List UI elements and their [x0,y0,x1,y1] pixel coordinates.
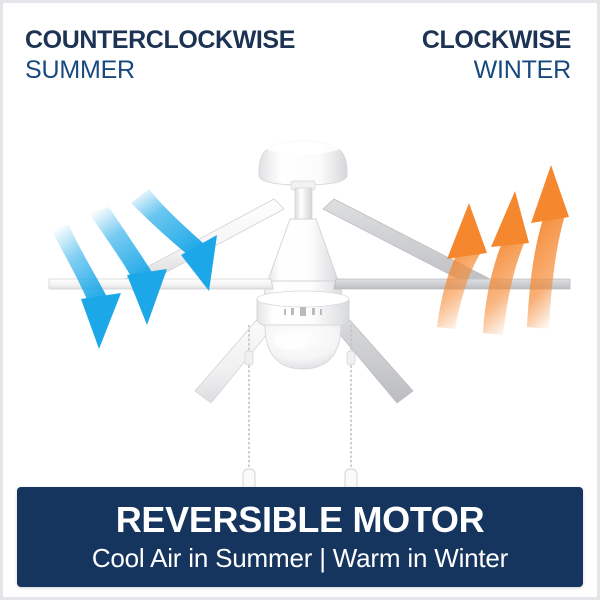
pull-chain-right-connector [347,351,355,365]
infographic-canvas: COUNTERCLOCKWISE SUMMER CLOCKWISE WINTER [0,0,600,600]
header-right-title: CLOCKWISE [422,27,571,54]
fan-blade-left [49,279,273,289]
pull-chain-left-connector [245,351,253,365]
banner-subtitle: Cool Air in Summer | Warm in Winter [92,545,508,572]
light-dome-highlight [273,332,309,350]
banner-title: REVERSIBLE MOTOR [116,501,485,539]
motor-housing-body [267,219,339,283]
fan-blade-right [334,279,570,289]
header-label-counterclockwise: COUNTERCLOCKWISE SUMMER [25,27,295,84]
header-right-subtitle: WINTER [422,57,571,84]
switch-housing-top [257,291,349,307]
ceiling-fan-graphic [3,103,600,493]
canopy-top-highlight [261,136,345,154]
header-left-title: COUNTERCLOCKWISE [25,27,295,54]
header-left-subtitle: SUMMER [25,57,295,84]
header-label-clockwise: CLOCKWISE WINTER [422,27,571,84]
fan-blade-upper-right [323,199,490,289]
fan-blade-upper-left [121,199,284,290]
fan-illustration [3,103,600,493]
reversible-motor-banner: REVERSIBLE MOTOR Cool Air in Summer | Wa… [17,487,583,587]
downrod [295,188,312,222]
light-kit [257,291,349,369]
